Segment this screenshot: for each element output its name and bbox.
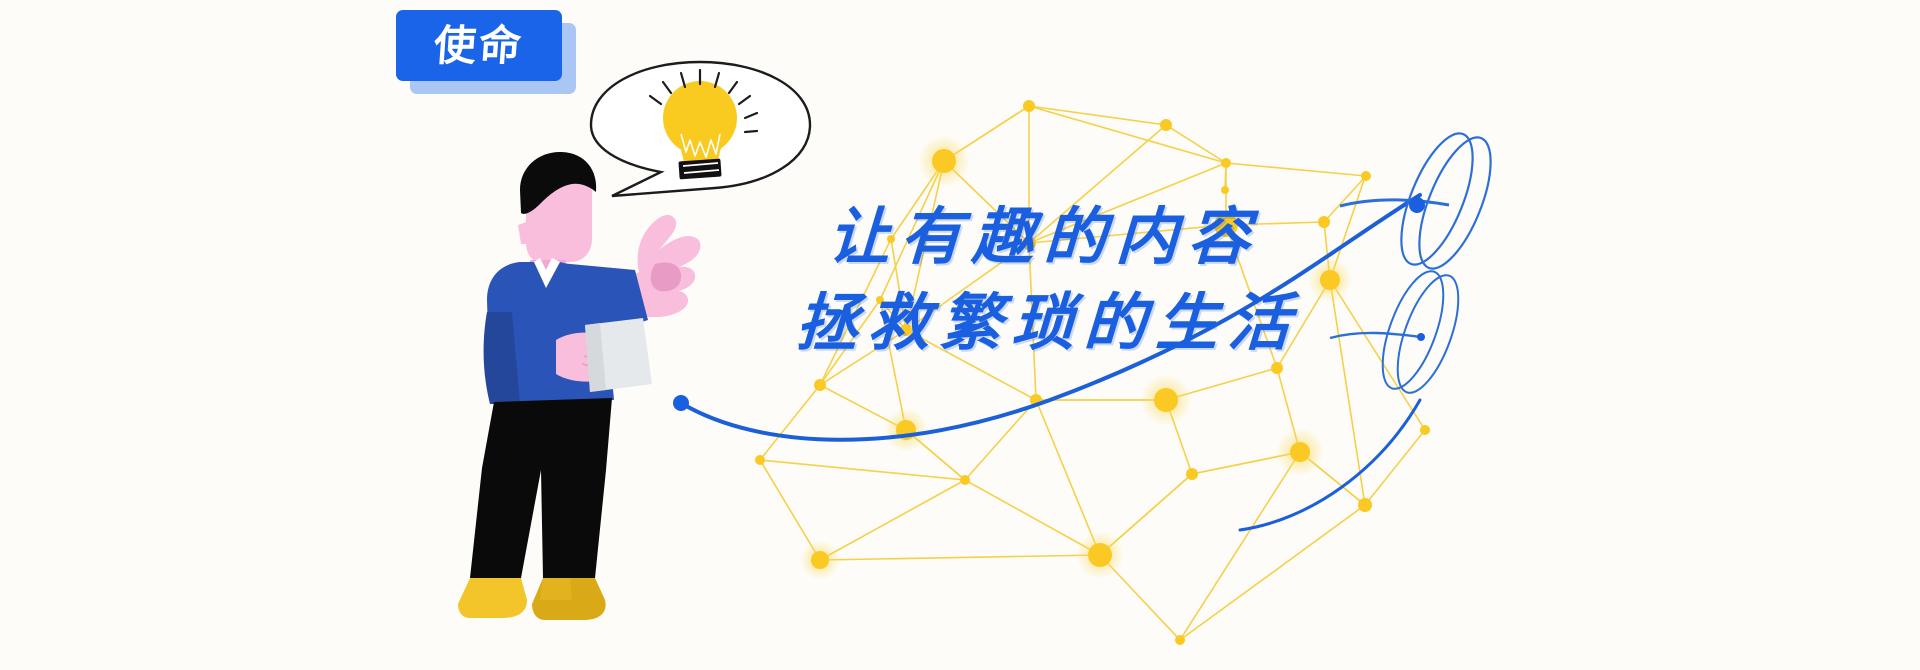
mission-badge-face[interactable]: 使命 <box>396 10 562 81</box>
headline-line-1: 让有趣的内容 <box>826 195 1451 281</box>
mission-banner: 使命 让有趣的内容 拯救繁琐的生活 <box>0 0 1920 670</box>
mission-badge[interactable]: 使命 <box>396 10 576 94</box>
mission-badge-label: 使命 <box>433 25 526 67</box>
clipboard <box>585 318 652 392</box>
headline-block: 让有趣的内容 拯救繁琐的生活 <box>828 195 1448 367</box>
headline-line-2: 拯救繁琐的生活 <box>794 281 1451 367</box>
